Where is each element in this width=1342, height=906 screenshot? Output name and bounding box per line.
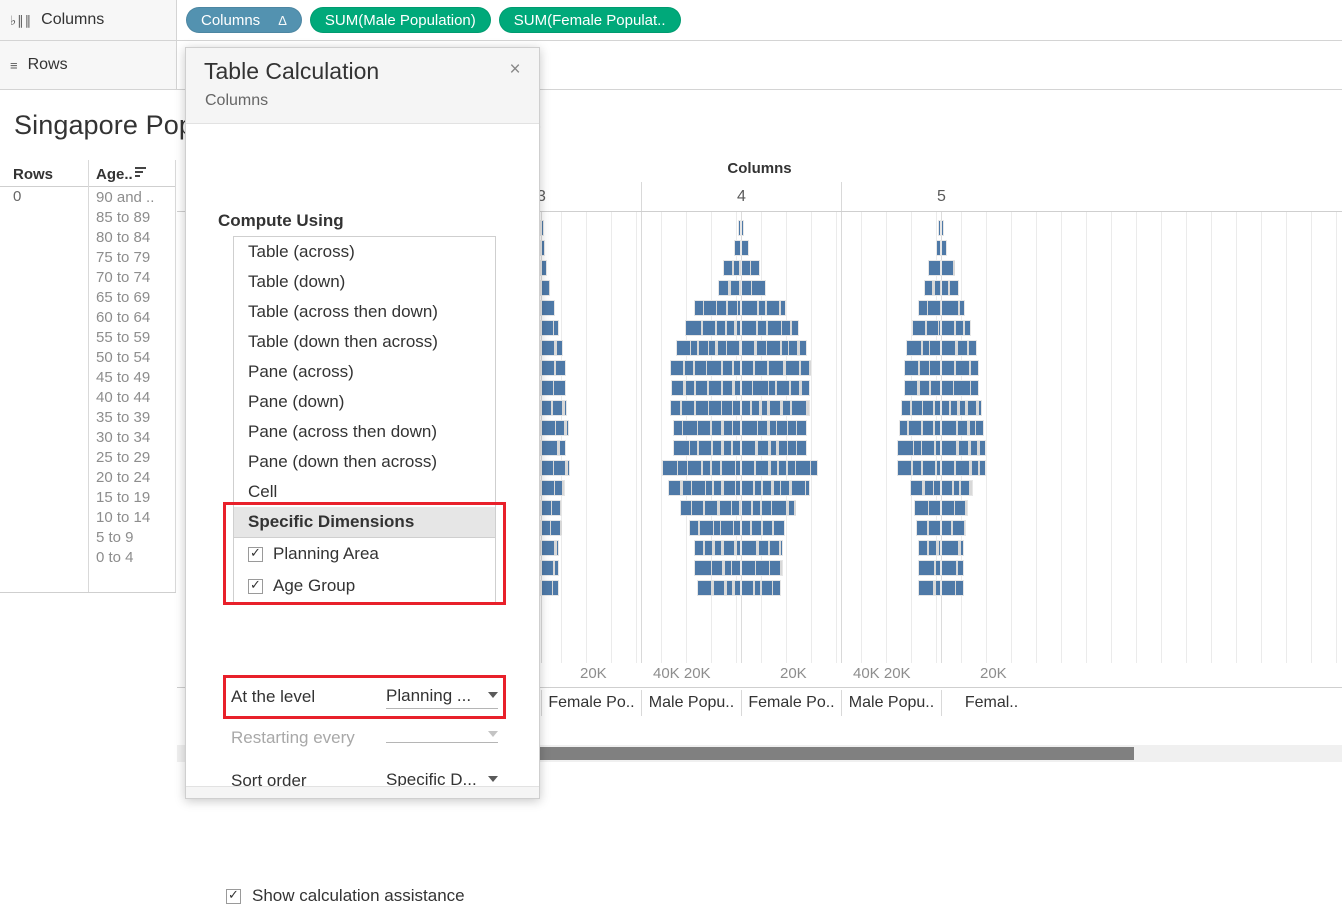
dialog-subtitle: Columns — [205, 92, 268, 110]
compute-using-option[interactable]: Pane (across then down) — [234, 417, 495, 447]
bar-male[interactable] — [928, 260, 941, 276]
column-header[interactable]: 4 — [641, 182, 841, 211]
bar-segment-divider — [921, 341, 923, 355]
age-group-cell[interactable]: 70 to 74 — [96, 268, 176, 288]
columns-shelf[interactable]: ♭∥∥ Columns Columns Δ SUM(Male Populatio… — [0, 0, 1342, 41]
show-calculation-assistance-checkbox[interactable] — [226, 889, 241, 904]
bar-segment-divider — [969, 361, 971, 375]
bar-male[interactable] — [906, 340, 941, 356]
bar-female[interactable] — [941, 240, 947, 256]
bar-segment-divider — [970, 381, 972, 395]
bar-segment-divider — [933, 481, 935, 495]
columns-shelf-icon: ♭∥∥ — [10, 14, 32, 27]
axis-tick-label: 40K 20K — [653, 665, 711, 682]
age-group-cell[interactable]: 0 to 4 — [96, 548, 176, 568]
age-group-cell[interactable]: 35 to 39 — [96, 408, 176, 428]
bar-male[interactable] — [918, 540, 941, 556]
dimension-label: Planning Area — [273, 544, 379, 564]
bar-male[interactable] — [897, 460, 941, 476]
bar-female[interactable] — [941, 320, 971, 336]
bar-male[interactable] — [897, 440, 941, 456]
bar-male[interactable] — [914, 500, 941, 516]
bar-segment-divider — [921, 461, 923, 475]
pill-columns[interactable]: Columns Δ — [186, 7, 302, 33]
bar-segment-divider — [957, 401, 960, 415]
bar-female[interactable] — [941, 560, 964, 576]
bar-segment-divider — [977, 441, 980, 455]
bar-female[interactable] — [941, 480, 973, 496]
bar-female[interactable] — [941, 540, 964, 556]
at-the-level-dropdown[interactable]: Planning ... — [386, 686, 498, 709]
row-header-area: Rows Age.. 0 90 and ..85 to 8980 to 8475… — [0, 160, 176, 593]
dimension-item[interactable]: Planning Area — [234, 538, 495, 570]
bar-segment-divider — [933, 401, 935, 415]
bar-female[interactable] — [941, 520, 966, 536]
close-icon[interactable]: × — [505, 60, 525, 80]
row-header-value-rows: 0 — [13, 188, 21, 205]
dimension-checkbox[interactable] — [248, 547, 263, 562]
bar-female[interactable] — [941, 300, 965, 316]
bar-male[interactable] — [904, 380, 941, 396]
show-calculation-assistance-row[interactable]: Show calculation assistance — [186, 886, 465, 906]
bar-segment-divider — [968, 441, 971, 455]
age-group-cell[interactable]: 10 to 14 — [96, 508, 176, 528]
dialog-footer — [186, 786, 539, 798]
age-group-list: 90 and ..85 to 8980 to 8475 to 7970 to 7… — [96, 188, 176, 568]
bar-segment-divider — [922, 481, 925, 495]
bar-segment-divider — [956, 441, 959, 455]
bar-segment-divider — [967, 421, 970, 435]
bar-segment-divider — [934, 441, 936, 455]
age-group-cell[interactable]: 5 to 9 — [96, 528, 176, 548]
bar-male[interactable] — [918, 560, 941, 576]
horizontal-scrollbar-thumb[interactable] — [539, 747, 1134, 760]
bar-segment-divider — [925, 321, 927, 335]
bar-segment-divider — [963, 321, 965, 335]
rows-shelf-label: ≡ Rows — [0, 41, 177, 89]
columns-shelf-label: ♭∥∥ Columns — [0, 0, 177, 40]
pill-columns-delta-icon: Δ — [278, 13, 287, 28]
age-group-cell[interactable]: 25 to 29 — [96, 448, 176, 468]
dimension-label: Age Group — [273, 576, 355, 596]
pill-columns-label: Columns — [201, 12, 260, 29]
compute-using-option[interactable]: Table (down) — [234, 267, 495, 297]
bar-female[interactable] — [941, 580, 964, 596]
bar-segment-divider — [921, 421, 923, 435]
bar-segment-divider — [929, 341, 931, 355]
axis-caption-male[interactable]: Male Popu.. — [841, 690, 941, 716]
bar-segment-divider — [969, 461, 972, 475]
axis-tick-label: 20K — [980, 665, 1007, 682]
bar-segment-divider — [956, 421, 958, 435]
bar-female[interactable] — [941, 220, 944, 236]
bar-segment-divider — [967, 341, 969, 355]
chevron-down-icon — [488, 731, 498, 737]
axis-caption-female[interactable]: Female Po.. — [541, 690, 641, 716]
bar-segment-divider — [969, 481, 972, 495]
pill-sum-male-population-label: SUM(Male Population) — [325, 12, 476, 29]
columns-shelf-label-text: Columns — [41, 11, 104, 29]
axis-tick-label: 40K 20K — [853, 665, 911, 682]
compute-using-option[interactable]: Pane (across) — [234, 357, 495, 387]
restarting-every-dropdown — [386, 734, 498, 743]
bar-segment-divider — [954, 321, 956, 335]
bar-segment-divider — [955, 341, 958, 355]
bar-segment-divider — [951, 521, 953, 535]
row-header-divider — [88, 160, 89, 593]
bar-segment-divider — [955, 581, 957, 595]
bar-male[interactable] — [901, 400, 941, 416]
bar-segment-divider — [927, 521, 929, 535]
age-group-cell[interactable]: 40 to 44 — [96, 388, 176, 408]
compute-using-option[interactable]: Table (across then down) — [234, 297, 495, 327]
rows-shelf-icon: ≡ — [10, 59, 19, 72]
row-header-title-age[interactable]: Age.. — [96, 166, 146, 183]
at-the-level-value: Planning ... — [386, 686, 471, 706]
bar-segment-divider — [913, 441, 915, 455]
chevron-down-icon — [488, 776, 498, 782]
age-group-cell[interactable]: 80 to 84 — [96, 228, 176, 248]
sort-icon[interactable] — [135, 167, 146, 177]
axis-tick-label: 20K — [780, 665, 807, 682]
compute-using-label: Compute Using — [218, 211, 344, 231]
bar-female[interactable] — [941, 500, 968, 516]
bar-segment-divider — [954, 461, 956, 475]
bar-male[interactable] — [910, 480, 942, 496]
bar-segment-divider — [954, 501, 956, 515]
bar-segment-divider — [907, 421, 909, 435]
rows-shelf-label-text: Rows — [28, 56, 68, 74]
age-group-cell[interactable]: 55 to 59 — [96, 328, 176, 348]
bar-segment-divider — [975, 421, 977, 435]
bar-segment-divider — [938, 321, 940, 335]
compute-using-option[interactable]: Pane (down then across) — [234, 447, 495, 477]
bar-segment-divider — [948, 281, 950, 295]
bar-segment-divider — [929, 361, 931, 375]
bar-segment-divider — [918, 361, 920, 375]
age-group-cell[interactable]: 20 to 24 — [96, 468, 176, 488]
bar-segment-divider — [976, 401, 979, 415]
chevron-down-icon — [488, 692, 498, 698]
compute-using-option[interactable]: Table (down then across) — [234, 327, 495, 357]
bar-segment-divider — [978, 461, 980, 475]
compute-using-list[interactable]: Table (across)Table (down)Table (across … — [233, 236, 496, 538]
age-group-cell[interactable]: 15 to 19 — [96, 488, 176, 508]
bar-male[interactable] — [918, 580, 941, 596]
bar-male[interactable] — [912, 320, 941, 336]
bar-segment-divider — [935, 461, 937, 475]
bar-segment-divider — [965, 401, 968, 415]
bar-segment-divider — [964, 521, 966, 535]
at-the-level-row[interactable]: At the level Planning ... — [186, 680, 539, 714]
axis-caption-female[interactable]: Female Po.. — [741, 690, 841, 716]
columns-shelf-dropzone[interactable]: Columns Δ SUM(Male Population) SUM(Femal… — [177, 0, 1342, 40]
dimension-checkbox[interactable] — [248, 579, 263, 594]
bar-segment-divider — [911, 461, 913, 475]
age-group-cell[interactable]: 75 to 79 — [96, 248, 176, 268]
bar-segment-divider — [956, 561, 958, 575]
bar-segment-divider — [953, 261, 955, 275]
bar-male[interactable] — [918, 300, 941, 316]
axis-caption-female[interactable]: Femal.. — [941, 690, 1041, 716]
compute-using-option-specific-dimensions[interactable]: Specific Dimensions — [234, 507, 495, 537]
row-header-title-age-text: Age.. — [96, 166, 133, 183]
age-group-cell[interactable]: 60 to 64 — [96, 308, 176, 328]
age-group-cell[interactable]: 85 to 89 — [96, 208, 176, 228]
bar-male[interactable] — [924, 280, 941, 296]
bar-female[interactable] — [941, 380, 979, 396]
bar-segment-divider — [932, 281, 935, 295]
pill-sum-female-population[interactable]: SUM(Female Populat.. — [499, 7, 681, 33]
age-group-cell[interactable]: 45 to 49 — [96, 368, 176, 388]
bar-female[interactable] — [941, 260, 955, 276]
bar-segment-divider — [933, 421, 935, 435]
bar-segment-divider — [921, 441, 923, 455]
bar-female[interactable] — [941, 280, 959, 296]
bar-segment-divider — [928, 501, 930, 515]
bar-segment-divider — [936, 541, 939, 555]
bar-male[interactable] — [904, 360, 941, 376]
bar-segment-divider — [933, 581, 936, 595]
at-the-level-label: At the level — [231, 687, 315, 707]
bar-segment-divider — [917, 381, 920, 395]
bar-female[interactable] — [941, 460, 986, 476]
bar-male[interactable] — [916, 520, 941, 536]
pill-sum-female-population-label: SUM(Female Populat.. — [514, 12, 666, 29]
show-calculation-assistance-label: Show calculation assistance — [252, 886, 465, 906]
bar-segment-divider — [929, 381, 931, 395]
bar-female[interactable] — [941, 340, 977, 356]
restarting-every-label: Restarting every — [231, 728, 355, 748]
row-header-title-rows: Rows — [13, 166, 53, 183]
column-header[interactable]: 5 — [841, 182, 1041, 211]
age-group-cell[interactable]: 50 to 54 — [96, 348, 176, 368]
bar-female[interactable] — [941, 360, 979, 376]
dialog-title: Table Calculation — [204, 58, 379, 85]
bar-segment-divider — [958, 541, 961, 555]
age-group-cell[interactable]: 30 to 34 — [96, 428, 176, 448]
specific-dimensions-list[interactable]: Planning AreaAge Group — [233, 538, 496, 603]
age-group-cell[interactable]: 90 and .. — [96, 188, 176, 208]
bar-segment-divider — [954, 361, 956, 375]
bar-segment-divider — [910, 401, 912, 415]
bar-segment-divider — [949, 401, 951, 415]
bar-segment-divider — [922, 401, 924, 415]
dialog-header: Table Calculation Columns × — [186, 48, 539, 124]
bar-segment-divider — [934, 561, 936, 575]
table-calculation-dialog: Table Calculation Columns × Compute Usin… — [185, 47, 540, 799]
bar-male[interactable] — [899, 420, 941, 436]
compute-using-option[interactable]: Table (across) — [234, 237, 495, 267]
bar-segment-divider — [952, 481, 954, 495]
row-header-divider-right — [175, 160, 176, 593]
bar-segment-divider — [927, 541, 929, 555]
bar-segment-divider — [965, 501, 967, 515]
bar-female[interactable] — [941, 400, 982, 416]
axis-tick-label: 20K — [580, 665, 607, 682]
axis-caption-male[interactable]: Male Popu.. — [641, 690, 741, 716]
bar-segment-divider — [927, 301, 929, 315]
bar-segment-divider — [953, 381, 955, 395]
bar-segment-divider — [958, 301, 960, 315]
bar-female[interactable] — [941, 420, 984, 436]
restarting-every-row: Restarting every — [186, 721, 539, 755]
bar-segment-divider — [959, 481, 961, 495]
age-group-cell[interactable]: 65 to 69 — [96, 288, 176, 308]
pill-sum-male-population[interactable]: SUM(Male Population) — [310, 7, 491, 33]
compute-using-option[interactable]: Pane (down) — [234, 387, 495, 417]
row-header-bottom-rule — [0, 592, 176, 593]
dimension-item[interactable]: Age Group — [234, 570, 495, 602]
compute-using-option[interactable]: Cell — [234, 477, 495, 507]
bar-female[interactable] — [941, 440, 986, 456]
